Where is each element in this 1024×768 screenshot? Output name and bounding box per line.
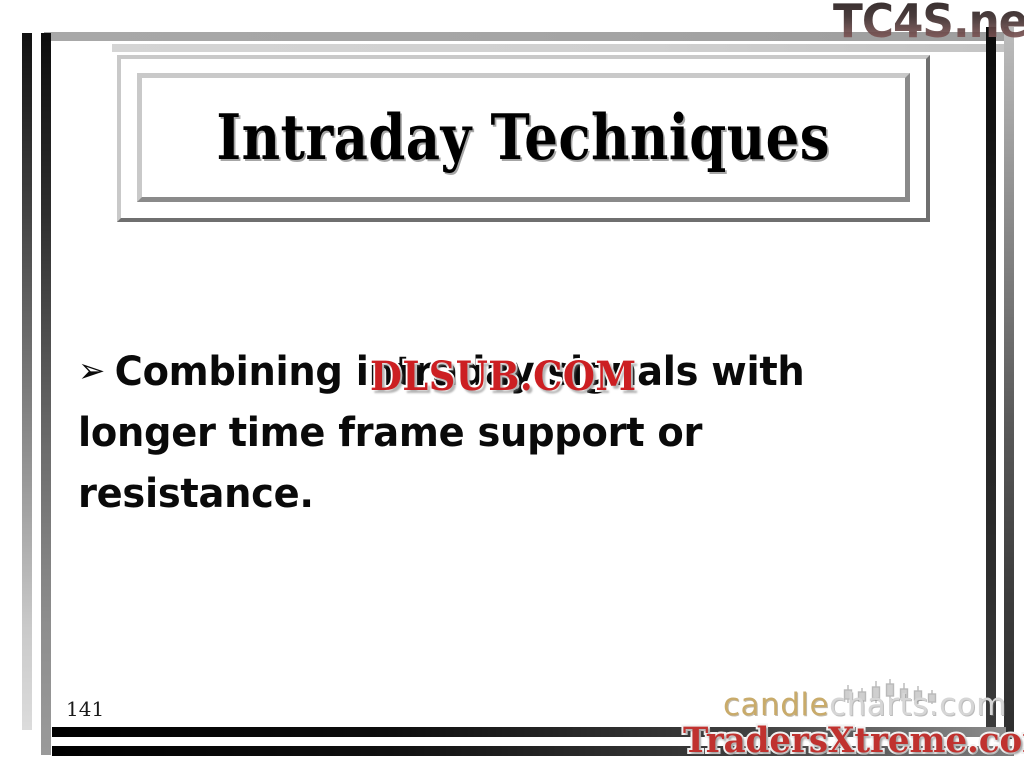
left-border-bar-outer xyxy=(22,33,32,730)
slide-title: Intraday Techniques xyxy=(217,106,830,169)
right-border-bar-inner xyxy=(986,27,996,727)
candlecharts-logo-part1: candle xyxy=(723,687,829,723)
tc4s-watermark: TC4S.net xyxy=(833,0,1024,44)
right-border-bar-outer xyxy=(1004,27,1014,739)
arrow-bullet-icon: ➢ xyxy=(78,351,115,391)
dlsub-watermark: DLSUB.COM xyxy=(370,357,637,397)
candlecharts-logo-part2: charts.com xyxy=(829,687,1007,723)
page-number: 141 xyxy=(66,697,104,721)
slide-title-frame: Intraday Techniques xyxy=(117,55,930,222)
slide-title-frame-inner: Intraday Techniques xyxy=(137,73,910,202)
tradersxtreme-watermark: TradersXtreme.com xyxy=(683,723,1024,758)
left-border-bar-inner xyxy=(41,33,51,755)
presentation-slide: Intraday Techniques ➢Combining intraday … xyxy=(0,0,1024,768)
candlecharts-logo: candlecharts.com xyxy=(723,690,1007,721)
